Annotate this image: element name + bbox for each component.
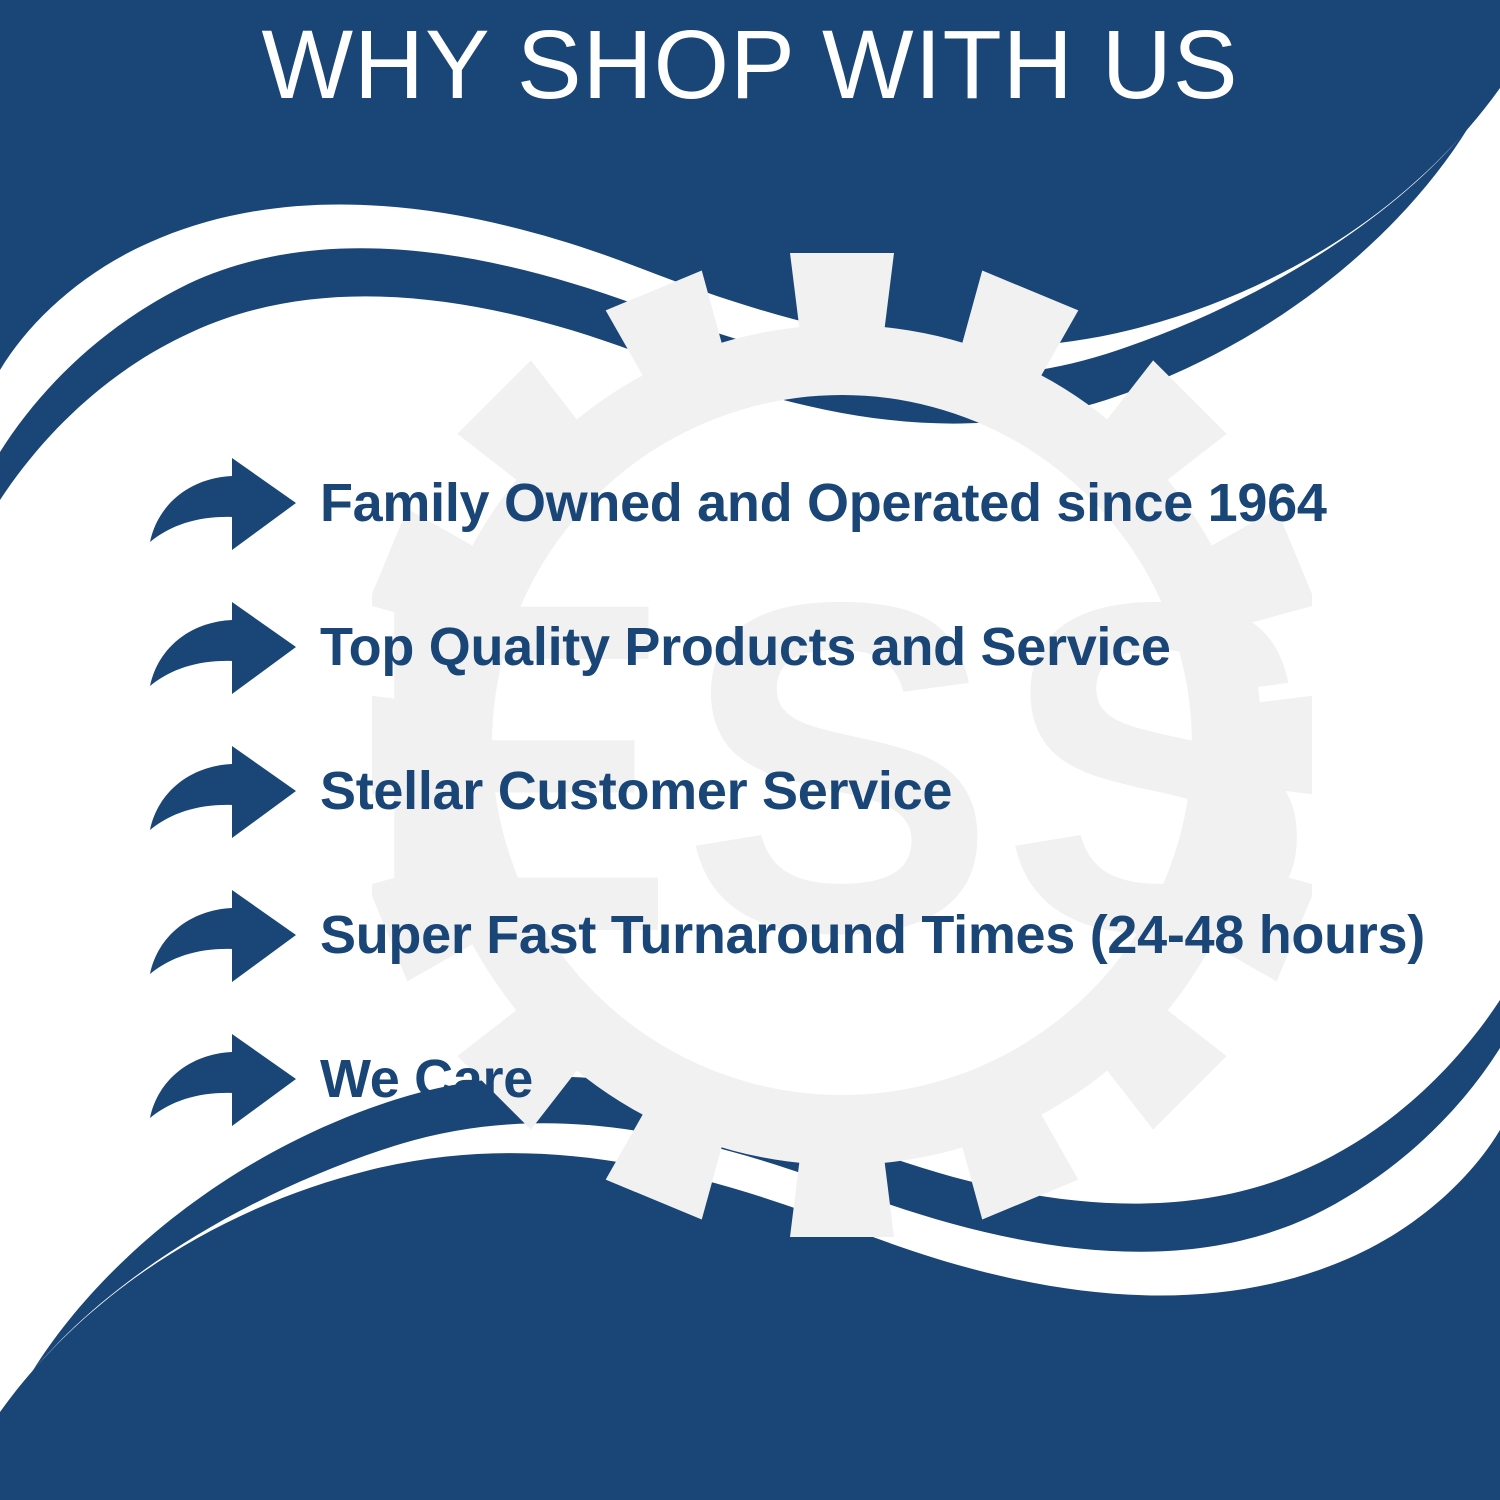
header-bar: WHY SHOP WITH US (0, 0, 1500, 150)
bottom-wave-band (0, 1130, 1500, 1500)
feature-item: We Care (0, 1008, 1500, 1152)
feature-list: Family Owned and Operated since 1964 Top… (0, 432, 1500, 1152)
feature-item: Family Owned and Operated since 1964 (0, 432, 1500, 576)
curved-arrow-right-icon (148, 744, 298, 840)
curved-arrow-right-icon (148, 888, 298, 984)
poster-canvas: ESS WHY SHOP WITH US Family Owned and Op… (0, 0, 1500, 1500)
feature-item: Super Fast Turnaround Times (24-48 hours… (0, 864, 1500, 1008)
feature-label: Super Fast Turnaround Times (24-48 hours… (320, 906, 1425, 965)
curved-arrow-right-icon (148, 600, 298, 696)
curved-arrow-right-icon (148, 1032, 298, 1128)
page-title: WHY SHOP WITH US (261, 0, 1238, 116)
feature-item: Top Quality Products and Service (0, 576, 1500, 720)
feature-label: Stellar Customer Service (320, 762, 952, 821)
feature-item: Stellar Customer Service (0, 720, 1500, 864)
feature-label: Top Quality Products and Service (320, 618, 1171, 677)
feature-label: We Care (320, 1050, 533, 1109)
curved-arrow-right-icon (148, 456, 298, 552)
feature-label: Family Owned and Operated since 1964 (320, 474, 1327, 533)
